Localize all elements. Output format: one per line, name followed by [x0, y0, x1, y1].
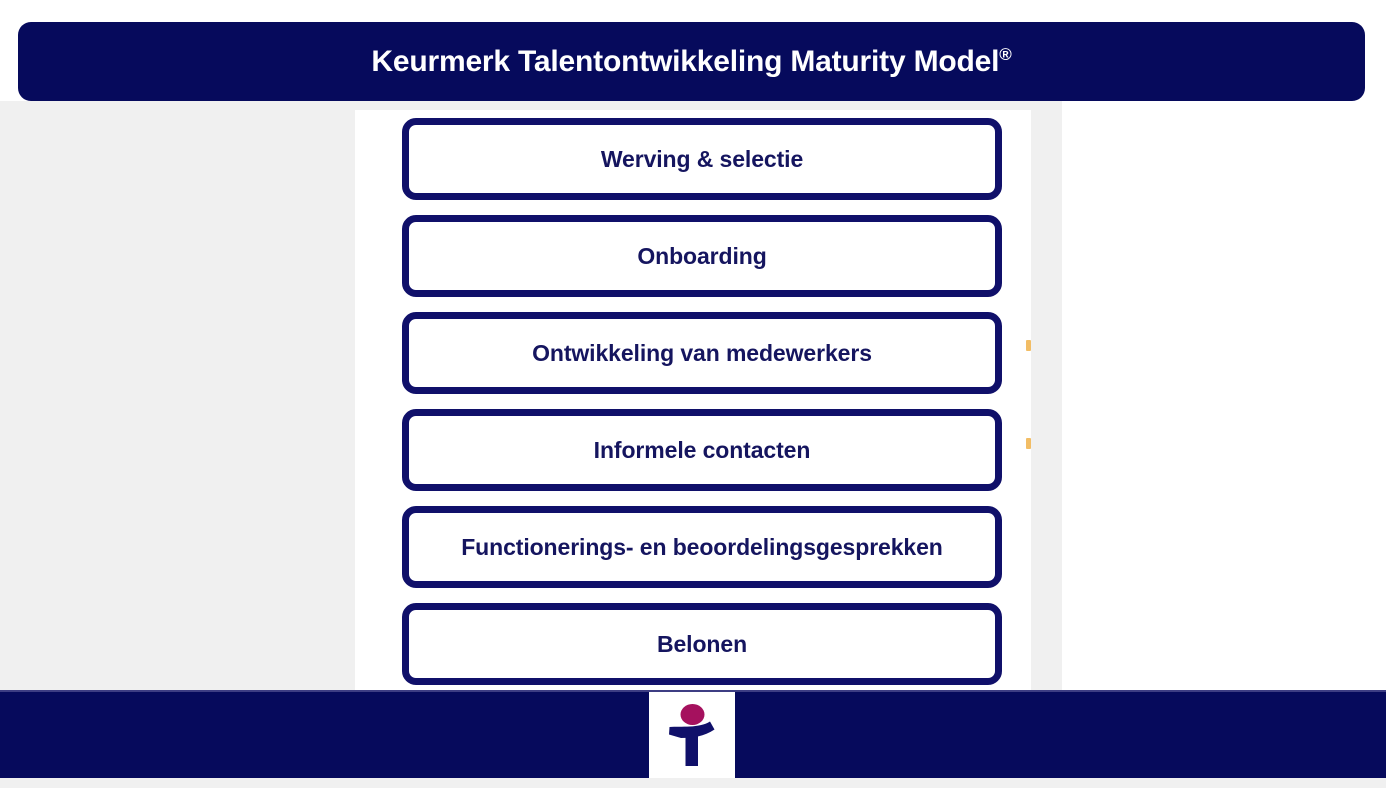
edge-marker — [1026, 340, 1031, 351]
page-background-lower — [0, 778, 1386, 788]
registered-trademark-mark: ® — [999, 45, 1011, 64]
logo-panel — [649, 692, 735, 778]
model-box[interactable]: Informele contacten — [402, 409, 1002, 491]
page-title: Keurmerk Talentontwikkeling Maturity Mod… — [371, 47, 1011, 77]
model-box[interactable]: Onboarding — [402, 215, 1002, 297]
model-box-label: Informele contacten — [594, 437, 811, 464]
slide-canvas: Keurmerk Talentontwikkeling Maturity Mod… — [0, 0, 1386, 788]
edge-marker — [1026, 438, 1031, 449]
title-bar: Keurmerk Talentontwikkeling Maturity Mod… — [18, 22, 1365, 101]
model-box-label: Functionerings- en beoordelingsgesprekke… — [461, 534, 943, 561]
page-title-main: Keurmerk Talentontwikkeling Maturity Mod… — [371, 45, 999, 78]
model-box[interactable]: Ontwikkeling van medewerkers — [402, 312, 1002, 394]
talent-figure-logo-icon — [661, 702, 723, 768]
model-box[interactable]: Belonen — [402, 603, 1002, 685]
model-box-label: Werving & selectie — [601, 146, 803, 173]
model-box-label: Onboarding — [637, 243, 766, 270]
model-box[interactable]: Functionerings- en beoordelingsgesprekke… — [402, 506, 1002, 588]
maturity-model-stack: Werving & selectie Onboarding Ontwikkeli… — [402, 118, 1002, 685]
model-box[interactable]: Werving & selectie — [402, 118, 1002, 200]
model-box-label: Ontwikkeling van medewerkers — [532, 340, 872, 367]
model-box-label: Belonen — [657, 631, 747, 658]
